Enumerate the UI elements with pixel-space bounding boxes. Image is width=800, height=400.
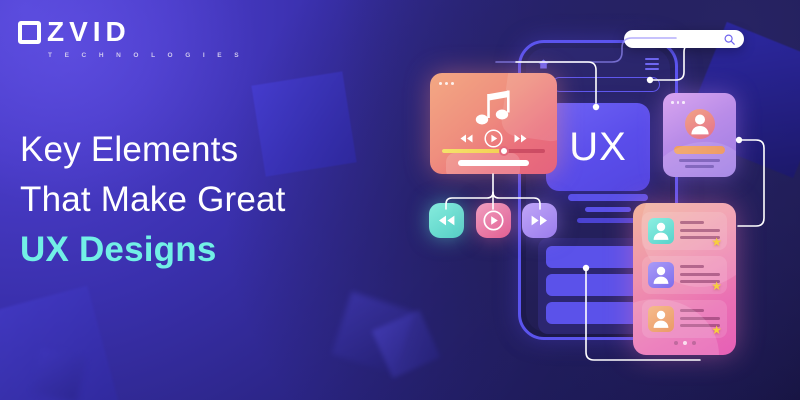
brand-tagline: T E C H N O L O G I E S	[48, 52, 244, 59]
brand-name: ZVID	[47, 18, 131, 46]
banner-root: ZVID T E C H N O L O G I E S Key Element…	[0, 0, 800, 400]
headline-line-3: UX Designs	[20, 225, 286, 275]
square-outline-icon	[18, 21, 41, 44]
background-square-2	[0, 286, 120, 400]
connector-wires	[400, 0, 800, 400]
headline: Key Elements That Make Great UX Designs	[20, 125, 286, 275]
illustration-stage: UX	[400, 0, 800, 400]
brand-logo[interactable]: ZVID T E C H N O L O G I E S	[18, 18, 244, 59]
headline-line-1: Key Elements	[20, 125, 286, 175]
logo-row: ZVID	[18, 18, 244, 46]
headline-line-2: That Make Great	[20, 175, 286, 225]
background-square-6	[32, 348, 87, 400]
